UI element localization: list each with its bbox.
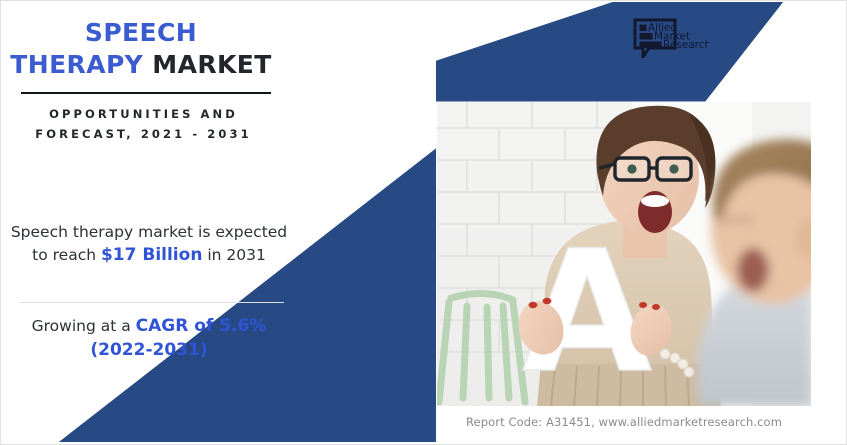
stats-divider	[19, 302, 284, 303]
title-line-2: THERAPY MARKET	[1, 49, 281, 81]
logo-bar-1	[640, 25, 647, 32]
therapist-eye-right	[669, 164, 678, 173]
stat-market-value: Speech therapy market is expected to rea…	[9, 221, 289, 268]
logo-text-research: Research	[663, 39, 709, 51]
stat-market-value-suffix: in 2031	[202, 246, 265, 264]
stat-cagr: Growing at a CAGR of 5.6% (2022-2031)	[9, 314, 289, 362]
report-footer: Report Code: A31451, www.alliedmarketres…	[437, 406, 811, 438]
title-accent-speech: SPEECH	[85, 18, 197, 47]
logo-mark: Allied Market Research	[631, 18, 709, 58]
therapist-teeth	[641, 195, 669, 207]
therapy-session-photo: A	[437, 102, 811, 406]
therapist-eye-left	[627, 164, 636, 173]
stat-cagr-prefix: Growing at a	[32, 317, 136, 335]
title-accent-therapy: THERAPY	[10, 50, 143, 79]
title-line-1: SPEECH	[1, 17, 281, 49]
report-subtitle: OPPORTUNITIES AND FORECAST, 2021 - 2031	[11, 105, 276, 145]
boy-open-mouth	[737, 248, 769, 292]
title-divider	[21, 92, 271, 94]
report-code-text: Report Code: A31451, www.alliedmarketres…	[466, 415, 782, 429]
photo-illustration: A	[437, 102, 811, 406]
stat-market-value-figure: $17 Billion	[101, 245, 202, 265]
left-content-panel: SPEECH THERAPY MARKET OPPORTUNITIES AND …	[1, 1, 301, 445]
title-plain-market: MARKET	[152, 50, 271, 79]
page-title: SPEECH THERAPY MARKET	[1, 17, 281, 81]
allied-market-research-logo[interactable]: Allied Market Research	[631, 18, 709, 58]
market-report-infographic: SPEECH THERAPY MARKET OPPORTUNITIES AND …	[0, 0, 847, 445]
top-blue-band	[436, 2, 783, 102]
